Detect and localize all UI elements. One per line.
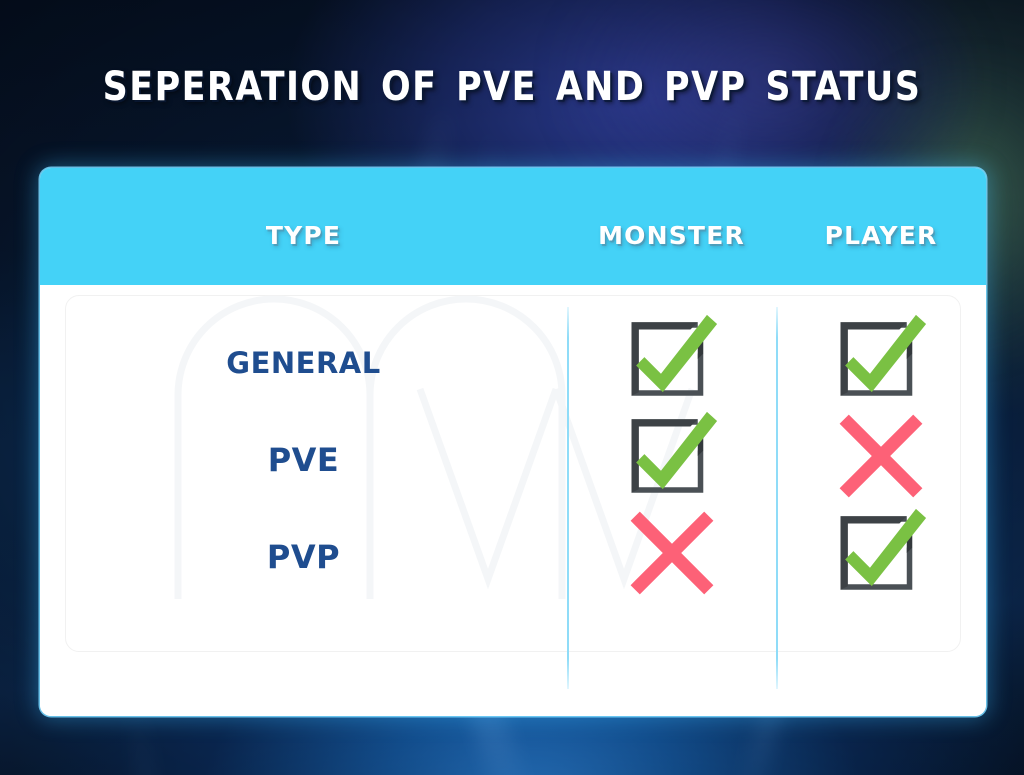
table-row: General bbox=[40, 310, 986, 407]
infographic-canvas: Seperation of PVE and PVP Status Type Mo… bbox=[0, 0, 1024, 775]
column-header-type: Type bbox=[40, 212, 567, 253]
red-cross-icon bbox=[835, 410, 927, 502]
column-header-player: Player bbox=[776, 212, 986, 253]
column-header-monster: Monster bbox=[567, 212, 776, 253]
row-label-pve: PVE bbox=[40, 407, 567, 504]
red-cross-icon bbox=[626, 507, 718, 599]
page-title: Seperation of PVE and PVP Status bbox=[15, 48, 1008, 114]
status-table-card: Type Monster Player General bbox=[40, 168, 986, 716]
cell-pve-player bbox=[776, 407, 986, 504]
green-checkmark-checkbox-icon bbox=[835, 507, 927, 599]
cell-general-player bbox=[776, 310, 986, 407]
cell-general-monster bbox=[567, 310, 776, 407]
green-checkmark-checkbox-icon bbox=[835, 313, 927, 405]
row-label-general: General bbox=[40, 310, 567, 407]
table-header-row: Type Monster Player bbox=[40, 168, 986, 285]
table-row: PVE bbox=[40, 407, 986, 504]
cell-pvp-monster bbox=[567, 504, 776, 601]
green-checkmark-checkbox-icon bbox=[626, 410, 718, 502]
cell-pve-monster bbox=[567, 407, 776, 504]
table-body: General bbox=[40, 285, 986, 716]
green-checkmark-checkbox-icon bbox=[626, 313, 718, 405]
row-label-pvp: PVP bbox=[40, 504, 567, 601]
table-row: PVP bbox=[40, 504, 986, 601]
cell-pvp-player bbox=[776, 504, 986, 601]
